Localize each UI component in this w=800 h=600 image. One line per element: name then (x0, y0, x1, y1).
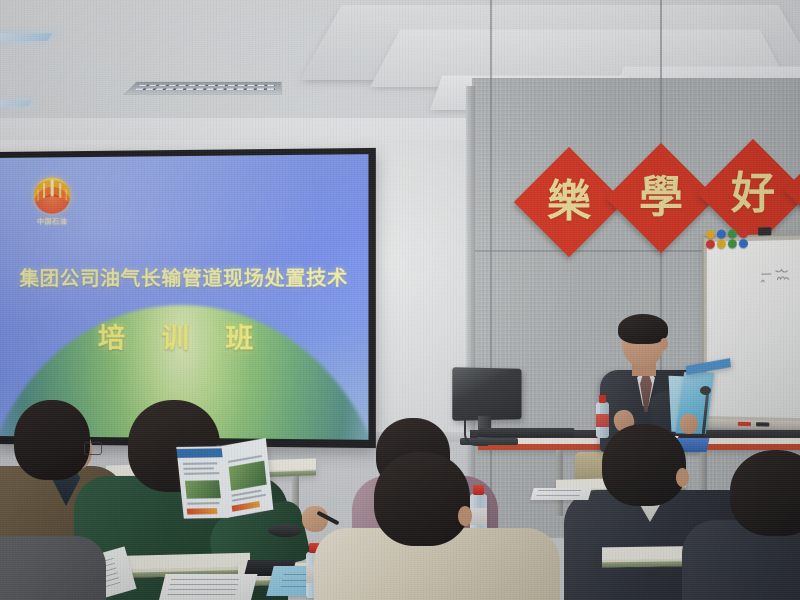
presenter-ear (660, 338, 668, 350)
desk-object (268, 524, 302, 537)
placard-character: 樂 (547, 180, 591, 224)
placard-character: 好 (731, 172, 775, 216)
conference-room-photo: 樂 學 好 中国石油 集团公司油气长输管道现场处置技术 培 训 班 (0, 0, 800, 600)
attendee-head (14, 400, 90, 480)
slide-subtitle: 培 训 班 (0, 316, 368, 357)
microphone-head (700, 386, 711, 395)
whiteboard-clip (758, 227, 771, 235)
open-brochure (176, 439, 275, 520)
ceiling-vent (123, 82, 282, 95)
ceiling-light (0, 101, 32, 107)
whiteboard-magnets (706, 229, 749, 249)
petrochina-logo-mark (34, 177, 70, 213)
attendee-ear (676, 468, 689, 487)
attendee-head (374, 452, 470, 546)
whiteboard-surface (707, 240, 800, 418)
attendee-head (730, 450, 800, 536)
placard-character: 學 (639, 176, 683, 220)
whiteboard-marker (756, 422, 769, 426)
whiteboard (702, 233, 800, 430)
slide-title: 集团公司油气长输管道现场处置技术 (0, 261, 368, 291)
ceiling-light (0, 33, 52, 40)
brochure-page (221, 438, 273, 517)
attendee-foreground-gray (0, 536, 96, 600)
attendee-torso (0, 536, 106, 600)
petrochina-logo-text: 中国石油 (37, 217, 67, 227)
attendee-head (602, 424, 686, 506)
keyboard (477, 428, 574, 437)
attendee-hand (302, 506, 328, 532)
petrochina-logo: 中国石油 (32, 177, 72, 232)
brochure-page (176, 446, 229, 518)
whiteboard-handwriting (759, 266, 800, 291)
attendee-cream-jacket (330, 452, 550, 600)
attendee-dark-suit-far-right (702, 450, 800, 600)
monitor-panel (452, 367, 521, 421)
attendee-ear (458, 506, 472, 526)
paper-stack (159, 574, 258, 600)
